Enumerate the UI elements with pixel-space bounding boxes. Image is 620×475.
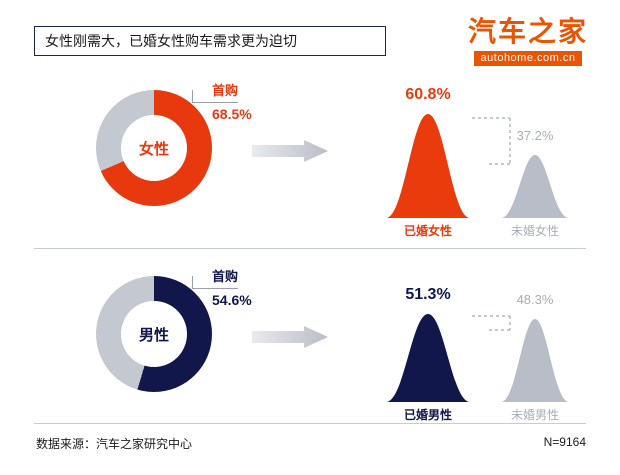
- donut-hole-female: 女性: [121, 115, 187, 181]
- donut-chart-male: 男性: [96, 276, 212, 392]
- curve-label-unmarried-male: 未婚男性: [492, 406, 578, 423]
- curve-group-male: 51.3% 已婚男性 48.3% 未婚男性: [340, 258, 620, 434]
- curve-value-unmarried-female: 37.2%: [498, 128, 572, 143]
- curve-unmarried-female: [498, 152, 572, 218]
- flow-arrow-male: [252, 326, 328, 348]
- divider-middle: [34, 248, 586, 249]
- flow-arrow-female: [252, 140, 328, 162]
- page-title-box: 女性刚需大，已婚女性购车需求更为迫切: [34, 26, 386, 56]
- divider-bottom: [34, 423, 586, 424]
- panel-female: 女性 首购 68.5% 60.8%: [0, 72, 620, 248]
- curve-married-female: [382, 110, 474, 218]
- curve-shape-unmarried-female: [498, 152, 572, 218]
- curve-married-male: [382, 310, 474, 402]
- curve-shape-unmarried-male: [498, 316, 572, 402]
- curve-label-married-male: 已婚男性: [382, 406, 474, 423]
- infographic-page: 女性刚需大，已婚女性购车需求更为迫切 汽车之家 autohome.com.cn …: [0, 0, 620, 475]
- curve-value-unmarried-male: 48.3%: [498, 292, 572, 307]
- curve-value-married-male: 51.3%: [382, 286, 474, 304]
- donut-leader-line-female: [192, 102, 238, 103]
- donut-leader-tick-female: [192, 90, 193, 103]
- donut-center-label-male: 男性: [139, 324, 169, 345]
- donut-segment-label-female: 首购: [212, 80, 238, 99]
- curve-label-married-female: 已婚女性: [382, 222, 474, 239]
- brand-logo-en: autohome.com.cn: [474, 51, 583, 66]
- brand-logo-cn: 汽车之家: [458, 16, 598, 48]
- donut-segment-value-female: 68.5%: [212, 106, 252, 122]
- sample-size-text: N=9164: [544, 435, 586, 449]
- donut-leader-tick-male: [192, 276, 193, 289]
- curve-shape-married-female: [382, 110, 474, 218]
- curve-value-married-female: 60.8%: [382, 86, 474, 104]
- data-source-text: 数据来源：汽车之家研究中心: [36, 435, 192, 452]
- donut-chart-female: 女性: [96, 90, 212, 206]
- panel-male: 男性 首购 54.6% 51.3% 已婚男性: [0, 258, 620, 423]
- donut-segment-value-male: 54.6%: [212, 292, 252, 308]
- curve-label-unmarried-female: 未婚女性: [492, 222, 578, 239]
- brand-logo: 汽车之家 autohome.com.cn: [458, 16, 598, 66]
- donut-segment-label-male: 首购: [212, 266, 238, 285]
- curve-shape-married-male: [382, 310, 474, 402]
- donut-center-label-female: 女性: [139, 138, 169, 159]
- donut-leader-line-male: [192, 288, 238, 289]
- page-title: 女性刚需大，已婚女性购车需求更为迫切: [45, 31, 297, 51]
- donut-hole-male: 男性: [121, 301, 187, 367]
- curve-unmarried-male: [498, 316, 572, 402]
- curve-group-female: 60.8% 已婚女性 37.2% 未婚女性: [340, 72, 620, 248]
